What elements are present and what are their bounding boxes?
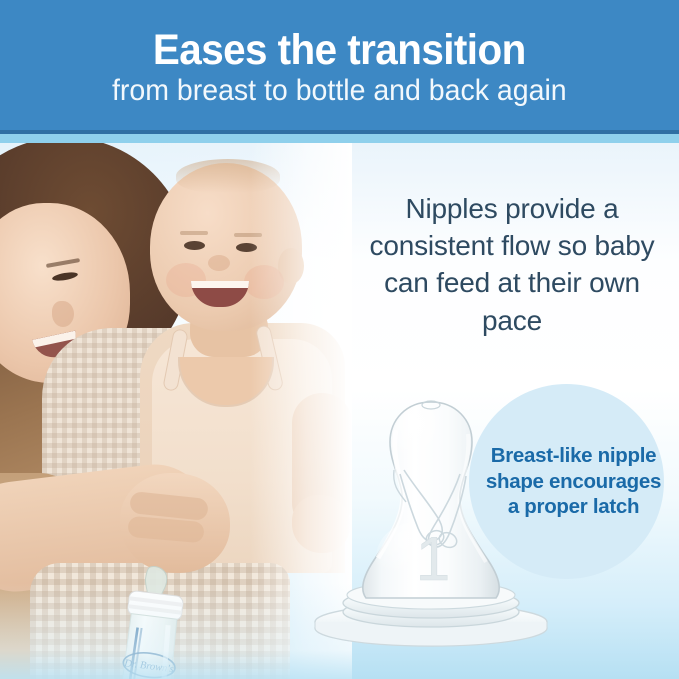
flow-rate-number: 1: [416, 525, 450, 594]
banner-subtitle: from breast to bottle and back again: [112, 75, 567, 107]
baby-eye-left: [184, 241, 205, 250]
baby-nose: [208, 255, 230, 271]
product-feature-image: Eases the transition from breast to bott…: [0, 0, 679, 679]
baby-eyebrow-left: [180, 231, 208, 235]
bottle-nipple-icon: 1: [296, 390, 566, 650]
banner-title: Eases the transition: [153, 28, 526, 73]
mother-nose: [52, 301, 74, 327]
feature-paragraph: Nipples provide a consistent flow so bab…: [352, 190, 672, 339]
banner-accent-strip: [0, 134, 679, 143]
header-banner: Eases the transition from breast to bott…: [0, 0, 679, 134]
baby-teeth: [191, 281, 249, 288]
